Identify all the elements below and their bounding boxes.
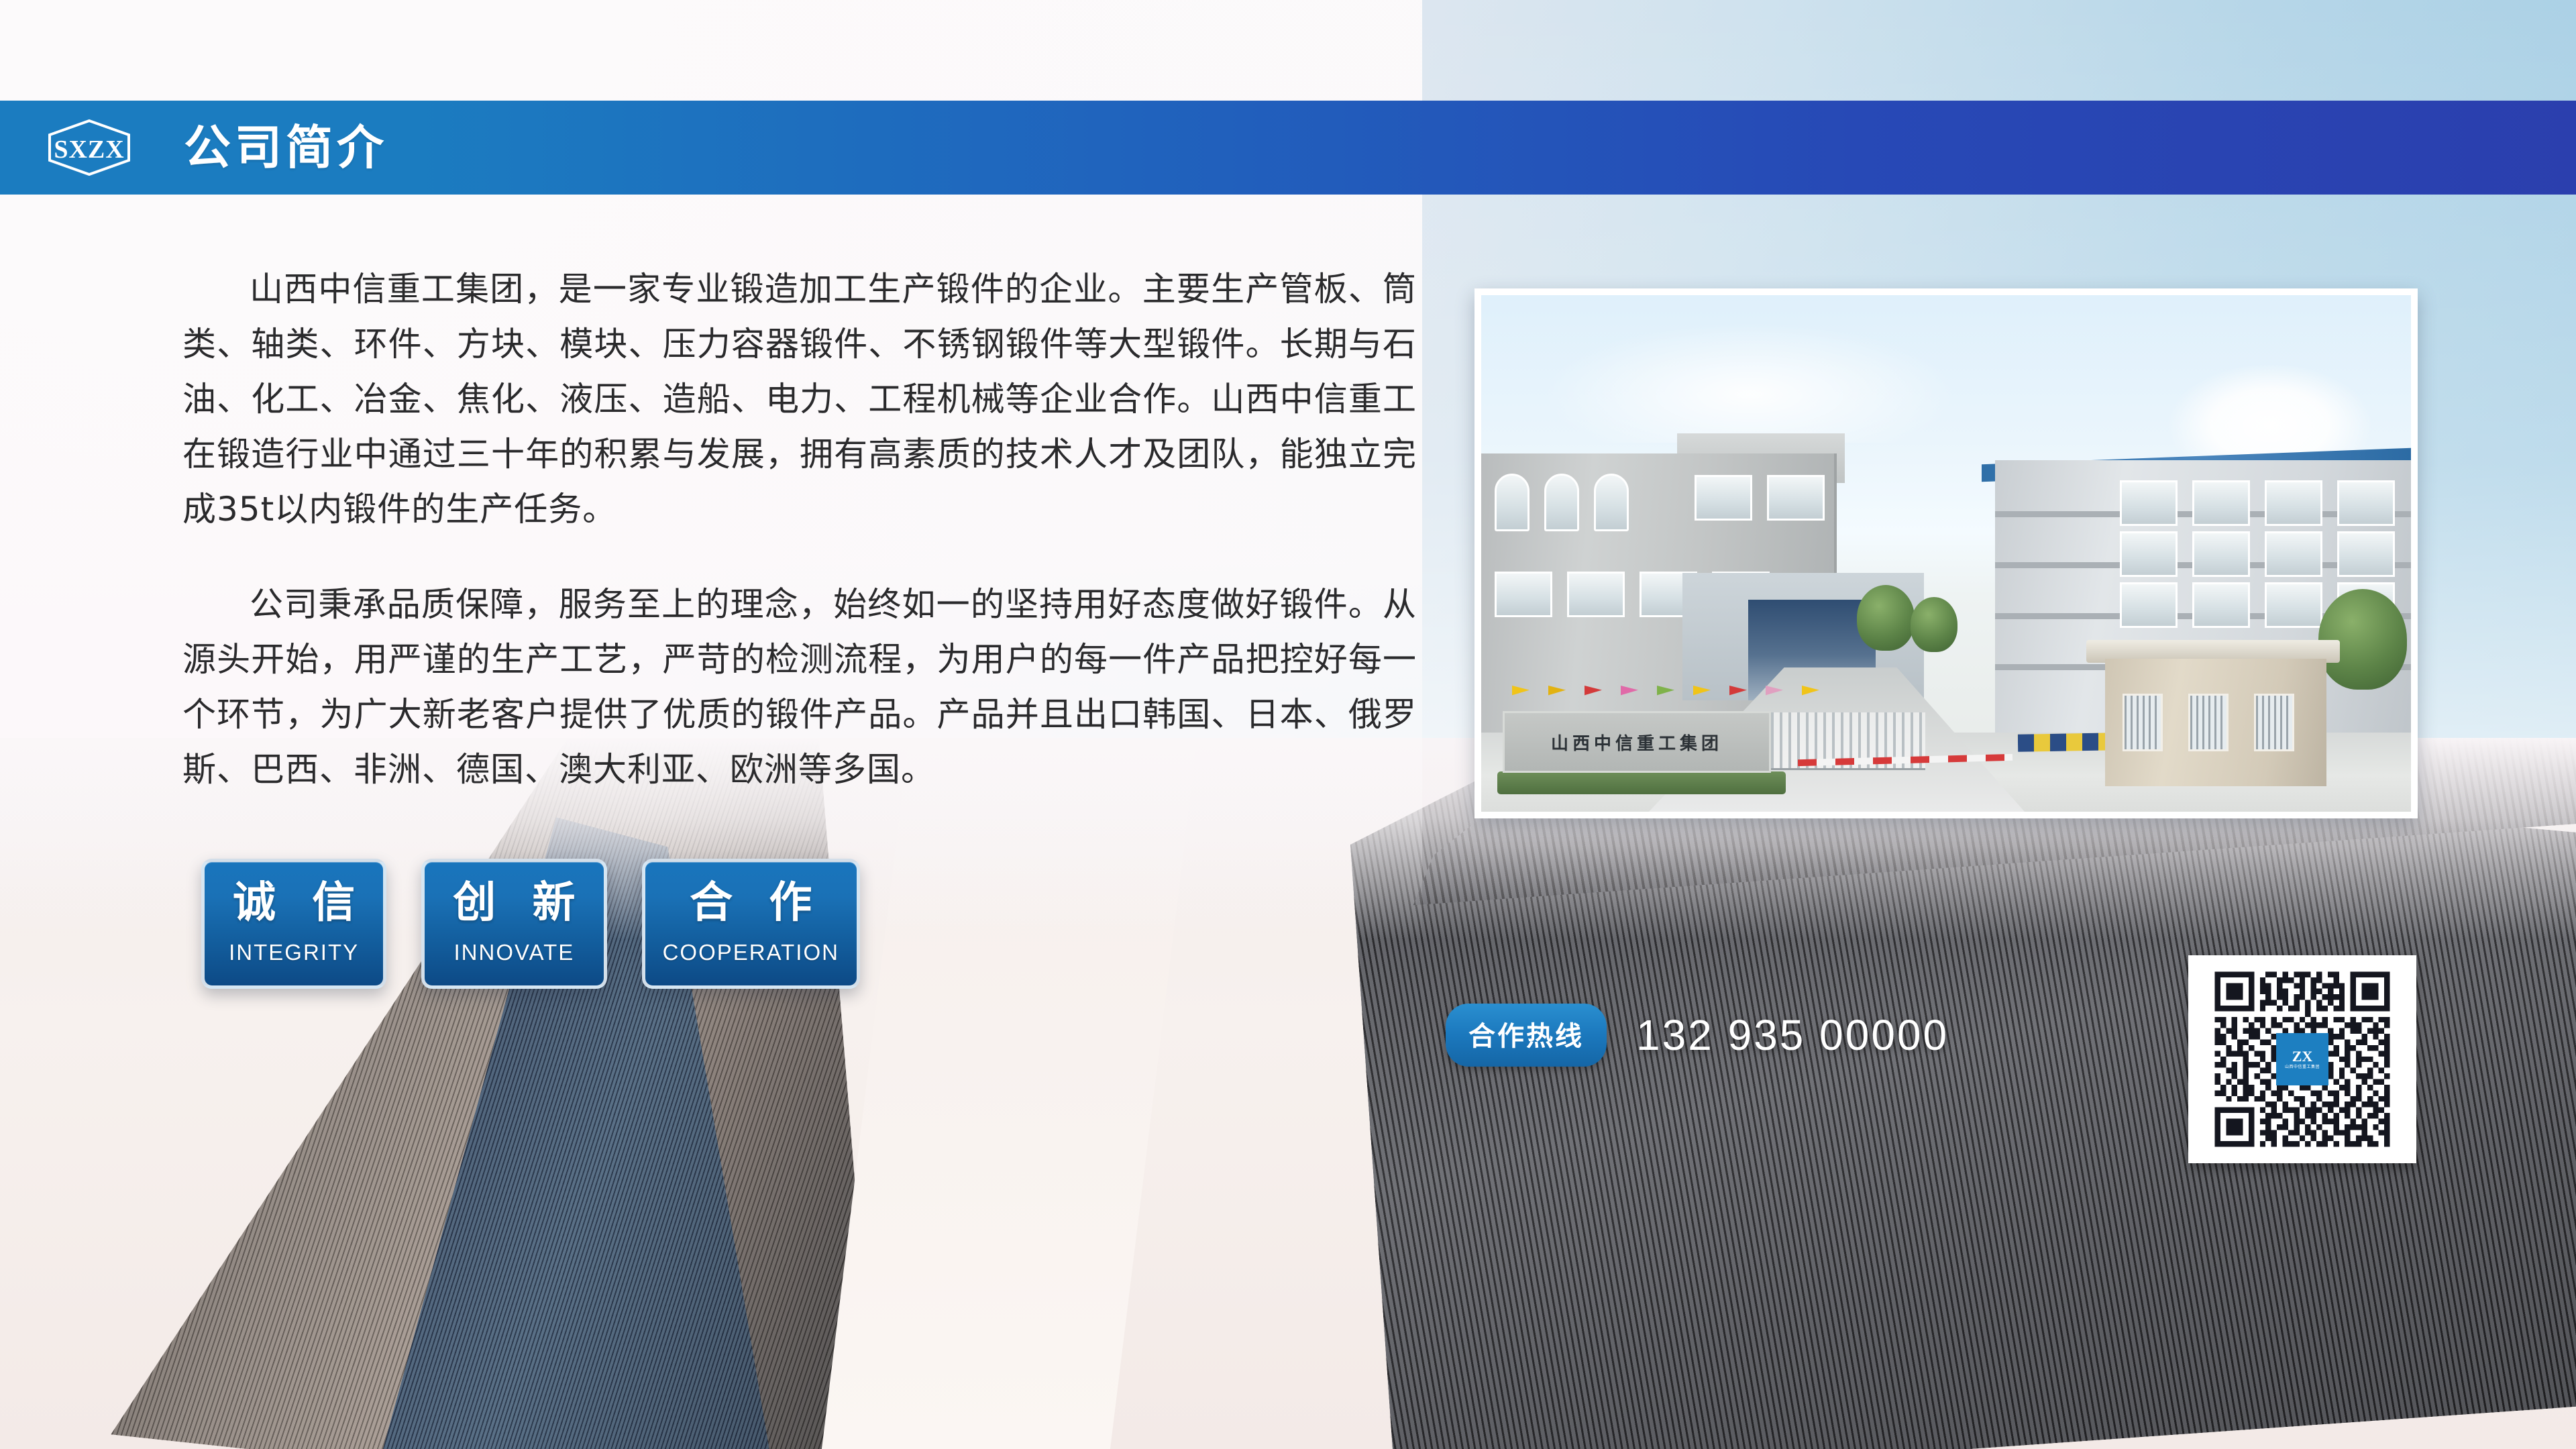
section-header-bar: SXZX 公司简介	[0, 101, 2576, 195]
photo-cloud-left	[1542, 322, 1957, 443]
value-badge-integrity[interactable]: 诚 信 INTEGRITY	[201, 859, 386, 989]
photo-hedge	[1497, 771, 1786, 794]
photo-window	[2265, 531, 2322, 577]
slide-root: SXZX 公司简介 山西中信重工集团，是一家专业锻造加工生产锻件的企业。主要生产…	[0, 0, 2576, 1449]
photo-flag	[1657, 686, 1674, 706]
factory-photo-frame: 山西中信重工集团	[1474, 288, 2418, 818]
photo-window	[2192, 531, 2250, 577]
photo-tree	[1857, 585, 1915, 651]
photo-window	[2265, 582, 2322, 628]
qr-center-logo-sub: 山西中信重工集团	[2285, 1065, 2320, 1069]
value-badge-integrity-en: INTEGRITY	[222, 940, 366, 965]
photo-window	[1594, 474, 1629, 531]
photo-flag	[1766, 686, 1783, 706]
value-badge-cooperation[interactable]: 合 作 COOPERATION	[642, 859, 860, 989]
hotline-block: 合作热线 132 935 00000	[1446, 1004, 1949, 1067]
qr-center-logo: ZX 山西中信重工集团	[2276, 1033, 2328, 1085]
qr-center-logo-mark: ZX	[2292, 1049, 2313, 1064]
sxzx-logo-icon: SXZX	[46, 119, 133, 176]
photo-window	[1495, 474, 1529, 531]
photo-window	[2337, 480, 2395, 526]
photo-company-sign: 山西中信重工集团	[1503, 711, 1771, 773]
photo-window	[1567, 572, 1625, 617]
photo-window	[1767, 475, 1825, 521]
hotline-label: 合作热线	[1446, 1004, 1607, 1067]
photo-window	[2254, 694, 2294, 751]
photo-left-window-row-1	[1495, 474, 1629, 531]
photo-right-window-row-2	[2120, 531, 2395, 577]
photo-flag	[1802, 686, 1819, 706]
value-badge-innovate[interactable]: 创 新 INNOVATE	[421, 859, 606, 989]
photo-flag	[1512, 686, 1529, 706]
paragraph-1: 山西中信重工集团，是一家专业锻造加工生产锻件的企业。主要生产管板、筒类、轴类、环…	[182, 262, 1417, 537]
photo-flag-row	[1512, 686, 1819, 706]
photo-window	[2265, 480, 2322, 526]
page-title: 公司简介	[184, 124, 388, 171]
photo-window	[2337, 531, 2395, 577]
photo-window	[2123, 694, 2163, 751]
photo-window	[2120, 582, 2178, 628]
photo-window	[1695, 475, 1752, 521]
qr-code-image: ZX 山西中信重工集团	[2199, 966, 2406, 1152]
photo-flag	[1693, 686, 1711, 706]
photo-window	[2188, 694, 2229, 751]
svg-text:SXZX: SXZX	[54, 136, 124, 164]
factory-photo: 山西中信重工集团	[1481, 295, 2411, 812]
core-values-badges: 诚 信 INTEGRITY 创 新 INNOVATE 合 作 COOPERATI…	[201, 859, 860, 989]
photo-tree	[1911, 597, 1957, 652]
value-badge-innovate-en: INNOVATE	[442, 940, 586, 965]
company-description: 山西中信重工集团，是一家专业锻造加工生产锻件的企业。主要生产管板、筒类、轴类、环…	[182, 262, 1417, 797]
photo-window	[2192, 582, 2250, 628]
value-badge-integrity-cn: 诚 信	[222, 878, 366, 929]
photo-flag	[1548, 686, 1566, 706]
hotline-number[interactable]: 132 935 00000	[1636, 1010, 1949, 1060]
photo-window	[1544, 474, 1579, 531]
photo-window	[2120, 531, 2178, 577]
photo-window	[2120, 480, 2178, 526]
photo-company-sign-text: 山西中信重工集团	[1551, 730, 1723, 755]
photo-gatehouse	[2105, 659, 2326, 786]
value-badge-cooperation-en: COOPERATION	[663, 940, 839, 965]
photo-flag	[1729, 686, 1747, 706]
photo-right-window-row-1	[2120, 480, 2395, 526]
value-badge-innovate-cn: 创 新	[442, 878, 586, 929]
photo-left-window-row-tower	[1695, 475, 1825, 521]
photo-tree	[2318, 589, 2407, 690]
paragraph-2: 公司秉承品质保障，服务至上的理念，始终如一的坚持用好态度做好锻件。从源头开始，用…	[182, 577, 1417, 797]
photo-flag	[1621, 686, 1638, 706]
value-badge-cooperation-cn: 合 作	[663, 878, 839, 929]
qr-code-card[interactable]: ZX 山西中信重工集团	[2188, 955, 2416, 1163]
photo-flag	[1585, 686, 1602, 706]
photo-window	[2192, 480, 2250, 526]
photo-window	[1495, 572, 1552, 617]
